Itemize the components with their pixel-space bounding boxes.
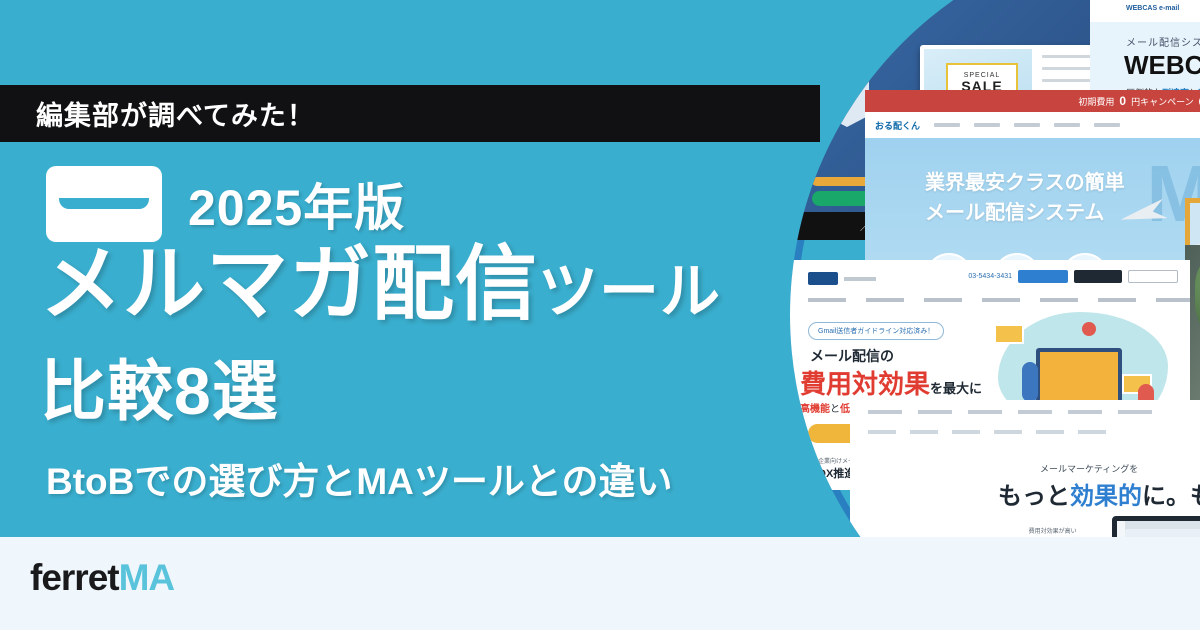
- haihai-headline: もっと効果的に。もっとラクに。: [998, 476, 1200, 511]
- webcas-nav-active: WEBCAS e-mail: [1126, 5, 1179, 12]
- campaign-num: 0: [1119, 94, 1126, 108]
- logo-ma: MA: [119, 557, 175, 598]
- footer-bar: ferretMA: [0, 537, 1200, 630]
- eyebrow-band: 編集部が調べてみた！: [0, 85, 820, 142]
- orukun-header: おる配くん: [865, 112, 1200, 138]
- orukun-brand: おる配くん: [875, 119, 920, 132]
- page-title-main: メルマガ配信ツール: [40, 244, 721, 326]
- haihai-nav: [868, 410, 1152, 414]
- illustration-envelope-1-icon: [994, 324, 1024, 344]
- ferret-ma-logo: ferretMA: [30, 559, 174, 596]
- cost-header-btn-2[interactable]: [1074, 270, 1122, 283]
- webcas-nav-secondary: WEBCAS e-mail: [1126, 5, 1200, 12]
- collage-inner: SPECIAL SALE ／システム契約数 2,500 を超える導入実績: [790, 0, 1200, 630]
- envelope-flap: [55, 170, 153, 222]
- website-collage-circle: SPECIAL SALE ／システム契約数 2,500 を超える導入実績: [790, 0, 1200, 630]
- illustration-dot-1: [1082, 322, 1096, 336]
- campaign-pre: 初期費用: [1078, 95, 1114, 108]
- envelope-icon: [46, 166, 162, 242]
- poster-canvas: SPECIAL SALE ／システム契約数 2,500 を超える導入実績: [0, 0, 1200, 630]
- orukun-campaign-bar: 初期費用 0 円キャンペーン: [865, 90, 1200, 112]
- cost-header-btn-3[interactable]: [1128, 270, 1178, 283]
- campaign-post: 円キャンペーン: [1131, 95, 1194, 108]
- year-label: 2025年版: [188, 168, 405, 240]
- cost-logo: [808, 272, 876, 285]
- cost-header-btn-1[interactable]: [1018, 270, 1068, 283]
- year-row: 2025年版: [46, 166, 405, 242]
- haihai-subnav: [868, 430, 1106, 434]
- eyebrow-label: 編集部が調べてみた！: [0, 94, 315, 133]
- haihai-kicker: メールマーケティングを: [1040, 462, 1138, 475]
- orukun-hero-heading: 業界最安クラスの簡単メール配信システム: [925, 168, 1125, 228]
- page-title-main-text: メルマガ配信: [40, 239, 538, 330]
- haihai-no1-small: 費用対効果が高い: [990, 526, 1115, 535]
- webcas-kicker: メール配信システム: [1126, 34, 1200, 49]
- cost-tel: 03-5434-3431: [968, 273, 1012, 280]
- cost-header-actions: 03-5434-3431: [968, 270, 1178, 283]
- page-title-second: 比較8選: [40, 358, 279, 424]
- webcas-headline: WEBCAS e-mail: [1124, 50, 1200, 81]
- logo-ferret: ferret: [30, 557, 119, 598]
- illustration-person-1-icon: [1022, 362, 1038, 402]
- cost-kicker: メール配信の: [810, 346, 894, 366]
- cost-notice-pill: Gmail送信者ガイドライン対応済み！: [808, 322, 944, 340]
- page-title-main-suffix: ツール: [538, 258, 721, 325]
- cost-logo-mark-icon: [808, 272, 838, 285]
- page-subtitle: BtoBでの選び方とMAツールとの違い: [46, 463, 673, 500]
- cost-headline: 費用対効果を最大に: [800, 364, 982, 401]
